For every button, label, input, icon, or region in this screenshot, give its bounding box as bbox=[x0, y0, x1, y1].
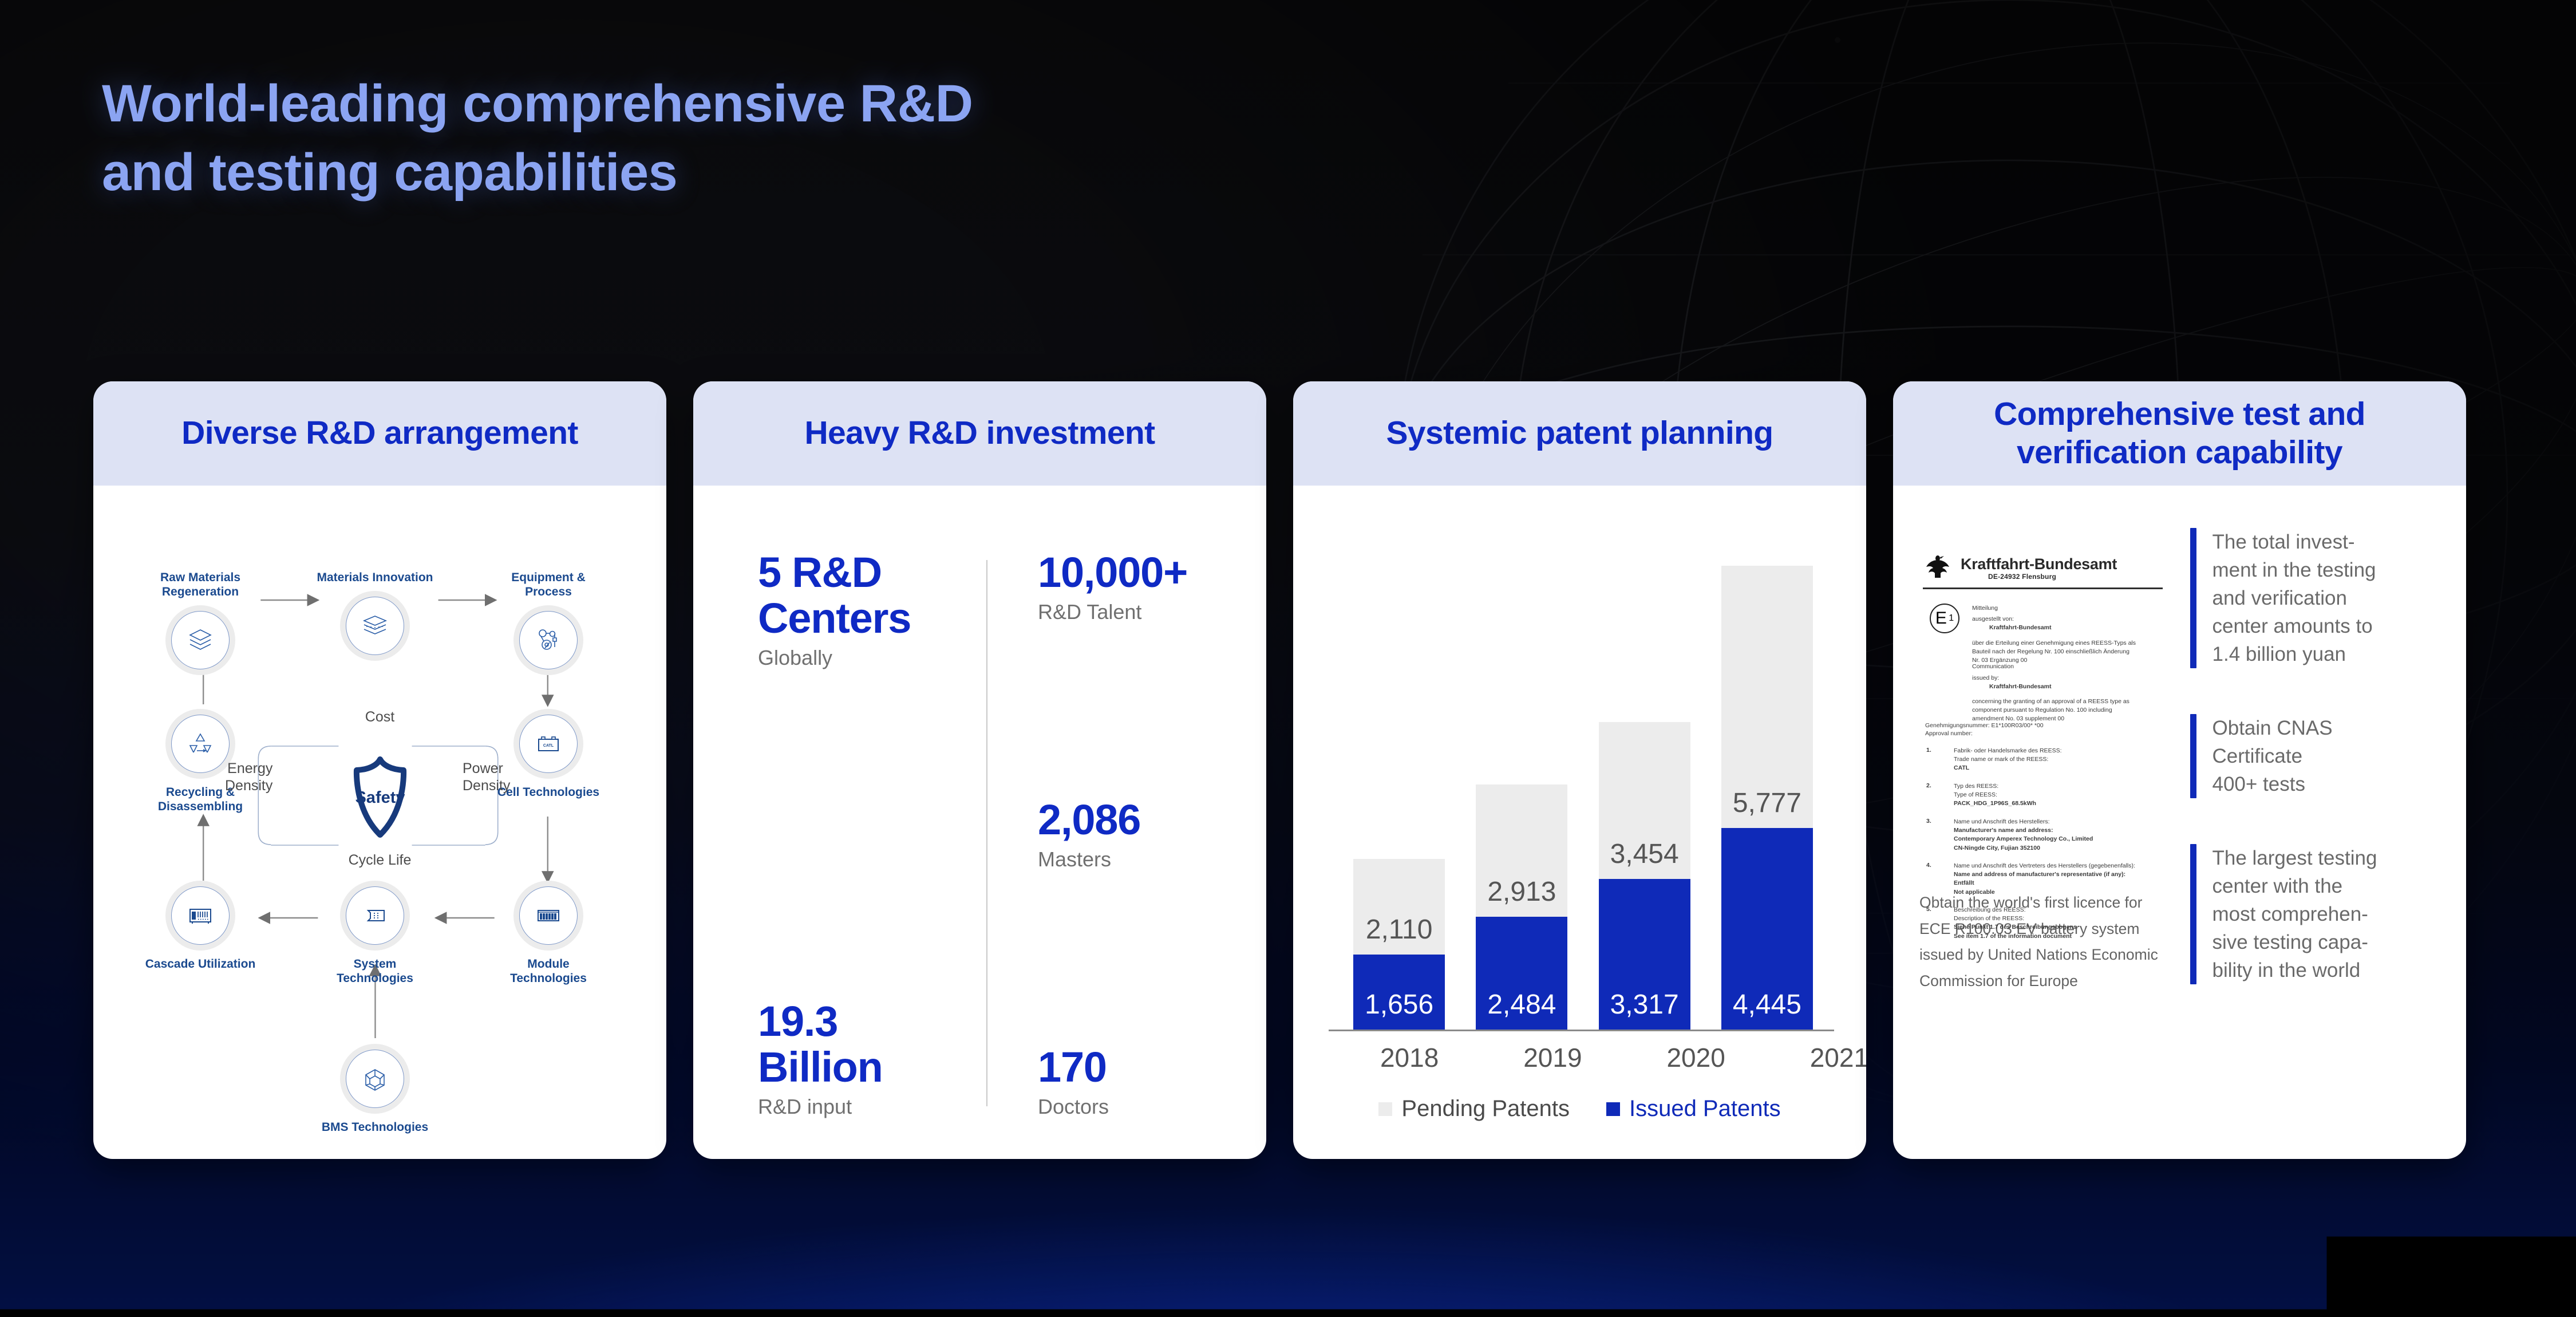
node-icon-bubble bbox=[340, 881, 410, 951]
chart-plot-area: 2,1101,6562,9132,4843,4543,3175,7774,445 bbox=[1338, 566, 1828, 1030]
bullet-total-investment: The total invest- ment in the testing an… bbox=[2190, 528, 2444, 668]
card-title: Systemic patent planning bbox=[1386, 414, 1773, 452]
cert-block-1: ausgestellt von: bbox=[1972, 615, 2014, 624]
bullet-largest-center: The largest testing center with the most… bbox=[2190, 844, 2444, 984]
node-icon-bubble bbox=[340, 1044, 410, 1114]
german-eagle-icon bbox=[1925, 551, 1950, 581]
bar-value-pending: 3,454 bbox=[1610, 838, 1679, 879]
diagram-node-bms-technologies[interactable]: BMS Technologies bbox=[315, 1044, 435, 1134]
stat-doctors: 170 Doctors bbox=[1038, 1044, 1266, 1119]
stat-rd-input: 19.3 Billion R&D input bbox=[758, 999, 986, 1119]
node-label: Equipment & Process bbox=[488, 570, 609, 599]
cert-item-lines: Beschreibung des REESS:Description of th… bbox=[1954, 906, 2143, 941]
node-icon-bubble bbox=[513, 605, 583, 675]
chart-x-tick-2019: 2019 bbox=[1495, 1042, 1610, 1073]
cert-block-2: Kraftfahrt-Bundesamt bbox=[1989, 624, 2052, 632]
center-label-cost: Cost bbox=[365, 709, 394, 726]
cert-block-5: issued by: bbox=[1972, 674, 1999, 683]
emark-letter: E bbox=[1935, 609, 1946, 628]
node-icon-ring bbox=[171, 715, 230, 773]
legend-label: Issued Patents bbox=[1629, 1096, 1781, 1122]
card-grid: Diverse R&D arrangement bbox=[93, 381, 2466, 1159]
bar-segment-issued: 4,445 bbox=[1721, 828, 1813, 1030]
node-icon-ring bbox=[346, 597, 404, 655]
card-title: Comprehensive test and verification capa… bbox=[1907, 395, 2452, 472]
card-systemic-patent-planning: Systemic patent planning 2,1101,6562,913… bbox=[1293, 381, 1866, 1159]
page-title-line-2: and testing capabilities bbox=[102, 139, 973, 207]
chart-bar-2019[interactable]: 2,9132,484 bbox=[1476, 784, 1567, 1030]
node-label: Cascade Utilization bbox=[140, 957, 260, 971]
stat-value: 170 bbox=[1038, 1044, 1266, 1090]
node-icon-bubble bbox=[165, 605, 235, 675]
bar-segment-pending: 5,777 bbox=[1721, 566, 1813, 828]
bar-value-pending: 5,777 bbox=[1733, 787, 1801, 828]
certificate-authority: Kraftfahrt-Bundesamt bbox=[1961, 555, 2117, 573]
bullet-text: The largest testing center with the most… bbox=[2212, 844, 2377, 984]
chart-x-axis-line bbox=[1329, 1030, 1834, 1031]
card-body: Kraftfahrt-Bundesamt DE-24932 Flensburg … bbox=[1893, 486, 2466, 1159]
node-icon-bubble bbox=[165, 881, 235, 951]
cert-item-number: 4. bbox=[1926, 862, 1931, 869]
diagram-node-module-technologies[interactable]: Module Technologies bbox=[488, 881, 609, 985]
stat-value: 5 R&D Centers bbox=[758, 550, 986, 641]
bar-segment-pending: 2,110 bbox=[1353, 859, 1445, 955]
stat-label: Doctors bbox=[1038, 1095, 1266, 1119]
stacked-sheets-icon bbox=[185, 625, 215, 655]
center-label-energy-density: Energy Density bbox=[225, 760, 272, 794]
cert-approval-de: Genehmigungsnummer: E1*100R03/00* *00 bbox=[1925, 721, 2044, 730]
cert-item-number: 5. bbox=[1926, 906, 1931, 913]
catl-battery-icon: CATL bbox=[534, 729, 563, 759]
cert-item-lines: Typ des REESS:Type of REESS:PACK_HDG_1P9… bbox=[1954, 782, 2143, 809]
stat-label: Globally bbox=[758, 646, 986, 670]
node-icon-ring bbox=[346, 886, 404, 945]
node-icon-bubble: CATL bbox=[513, 709, 583, 779]
chart-legend: Pending Patents Issued Patents bbox=[1293, 1096, 1866, 1122]
bar-value-pending: 2,110 bbox=[1366, 914, 1433, 955]
cert-block-7: concerning the granting of an approval o… bbox=[1972, 697, 2138, 724]
bullet-accent-rule bbox=[2190, 844, 2196, 984]
bar-segment-issued: 3,317 bbox=[1599, 879, 1690, 1030]
bar-segment-issued: 1,656 bbox=[1353, 955, 1445, 1030]
cert-item-lines: Fabrik- oder Handelsmarke des REESS:Trad… bbox=[1954, 747, 2143, 773]
stat-value: 19.3 Billion bbox=[758, 999, 986, 1090]
kba-certificate-scan: Kraftfahrt-Bundesamt DE-24932 Flensburg … bbox=[1919, 547, 2166, 868]
node-label: Raw Materials Regeneration bbox=[140, 570, 260, 599]
stat-rd-centers: 5 R&D Centers Globally bbox=[758, 550, 986, 670]
e1-approval-mark-icon: E 1 bbox=[1930, 604, 1959, 633]
node-icon-bubble bbox=[340, 591, 410, 661]
rack-cabinet-icon bbox=[185, 901, 215, 930]
certificate-and-bullets: Kraftfahrt-Bundesamt DE-24932 Flensburg … bbox=[1893, 486, 2466, 1159]
card-header: Heavy R&D investment bbox=[693, 381, 1266, 486]
card-body: 5 R&D Centers Globally 19.3 Billion R&D … bbox=[693, 486, 1266, 1159]
node-icon-ring bbox=[171, 886, 230, 945]
chart-bar-2018[interactable]: 2,1101,656 bbox=[1353, 859, 1445, 1030]
certificate-panel: Kraftfahrt-Bundesamt DE-24932 Flensburg … bbox=[1893, 486, 2180, 1159]
legend-swatch-issued bbox=[1606, 1102, 1620, 1116]
cert-item-number: 2. bbox=[1926, 782, 1931, 789]
card-comprehensive-test-verification: Comprehensive test and verification capa… bbox=[1893, 381, 2466, 1159]
node-label: BMS Technologies bbox=[315, 1120, 435, 1134]
bar-segment-issued: 2,484 bbox=[1476, 917, 1567, 1030]
layered-material-icon bbox=[360, 611, 390, 641]
card-body: 2,1101,6562,9132,4843,4543,3175,7774,445… bbox=[1293, 486, 1866, 1159]
card-header: Diverse R&D arrangement bbox=[93, 381, 666, 486]
bullet-accent-rule bbox=[2190, 714, 2196, 798]
cert-block-3: über die Erteilung einer Genehmigung ein… bbox=[1972, 639, 2138, 665]
patent-stacked-bar-chart: 2,1101,6562,9132,4843,4543,3175,7774,445… bbox=[1293, 486, 1866, 1159]
diagram-node-raw-materials-regeneration[interactable]: Raw Materials Regeneration bbox=[140, 570, 260, 675]
certificate-authority-sub: DE-24932 Flensburg bbox=[1988, 573, 2056, 581]
safety-shield: Safety bbox=[339, 755, 421, 842]
chart-x-tick-2018: 2018 bbox=[1352, 1042, 1467, 1073]
card-header: Comprehensive test and verification capa… bbox=[1893, 381, 2466, 486]
cert-item-number: 3. bbox=[1926, 818, 1931, 825]
bar-value-issued: 4,445 bbox=[1733, 989, 1801, 1030]
node-icon-ring bbox=[519, 611, 578, 669]
battery-module-icon bbox=[534, 901, 563, 930]
bullet-accent-rule bbox=[2190, 528, 2196, 668]
card-title: Heavy R&D investment bbox=[804, 414, 1155, 452]
recycle-icon bbox=[185, 729, 215, 759]
cert-block-4: Communication bbox=[1972, 663, 2014, 671]
node-label: System Technologies bbox=[315, 957, 435, 985]
bullet-text: Obtain CNAS Certificate 400+ tests bbox=[2212, 714, 2333, 798]
stat-value: 10,000+ bbox=[1038, 550, 1266, 596]
bar-segment-pending: 2,913 bbox=[1476, 784, 1567, 917]
stat-label: R&D input bbox=[758, 1095, 986, 1119]
stats-column-right: 10,000+ R&D Talent 2,086 Masters 170 Doc… bbox=[987, 550, 1266, 1119]
cube-network-icon bbox=[360, 1064, 390, 1094]
cert-block-0: Mitteilung bbox=[1972, 604, 1998, 613]
stat-label: Masters bbox=[1038, 847, 1266, 872]
robot-arm-icon bbox=[534, 625, 563, 655]
page-title-line-1: World-leading comprehensive R&D bbox=[102, 74, 973, 133]
svg-text:CATL: CATL bbox=[543, 744, 554, 748]
stat-masters: 2,086 Masters bbox=[1038, 797, 1266, 872]
testing-bullet-list: The total invest- ment in the testing an… bbox=[2180, 486, 2467, 1159]
shield-icon: Safety bbox=[339, 755, 421, 839]
node-label: Module Technologies bbox=[488, 957, 609, 985]
emark-number: 1 bbox=[1949, 613, 1954, 624]
card-header: Systemic patent planning bbox=[1293, 381, 1866, 486]
stat-label: R&D Talent bbox=[1038, 600, 1266, 624]
battery-system-icon bbox=[360, 901, 390, 930]
bar-value-issued: 1,656 bbox=[1365, 989, 1433, 1030]
node-icon-ring: CATL bbox=[519, 715, 578, 773]
legend-item-pending-patents[interactable]: Pending Patents bbox=[1378, 1096, 1570, 1122]
legend-item-issued-patents[interactable]: Issued Patents bbox=[1606, 1096, 1781, 1122]
node-icon-ring bbox=[519, 886, 578, 945]
cert-item-lines: Name und Anschrift des Herstellers:Manuf… bbox=[1954, 818, 2143, 853]
card-title: Diverse R&D arrangement bbox=[181, 414, 578, 452]
node-icon-bubble bbox=[513, 881, 583, 951]
node-icon-ring bbox=[171, 611, 230, 669]
chart-bar-2020[interactable]: 3,4543,317 bbox=[1599, 722, 1690, 1030]
card-body: Raw Materials Regeneration Materials Inn… bbox=[93, 486, 666, 1159]
stats-grid: 5 R&D Centers Globally 19.3 Billion R&D … bbox=[693, 486, 1266, 1159]
diagram-node-system-technologies[interactable]: System Technologies bbox=[315, 881, 435, 985]
cert-item-lines: Name und Anschrift des Vertreters des He… bbox=[1954, 862, 2143, 897]
stat-rd-talent: 10,000+ R&D Talent bbox=[1038, 550, 1266, 624]
bullet-text: The total invest- ment in the testing an… bbox=[2212, 528, 2376, 668]
chart-bar-2021[interactable]: 5,7774,445 bbox=[1721, 566, 1813, 1030]
certificate-divider bbox=[1923, 587, 2163, 589]
bullet-cnas-certificate: Obtain CNAS Certificate 400+ tests bbox=[2190, 714, 2444, 798]
bar-value-pending: 2,913 bbox=[1487, 876, 1556, 917]
chart-x-tick-2020: 2020 bbox=[1639, 1042, 1753, 1073]
diagram-node-cascade-utilization[interactable]: Cascade Utilization bbox=[140, 881, 260, 971]
node-icon-ring bbox=[346, 1050, 404, 1108]
node-label: Materials Innovation bbox=[315, 570, 435, 585]
diagram-node-materials-innovation[interactable]: Materials Innovation bbox=[315, 570, 435, 661]
page-title: World-leading comprehensive R&D and test… bbox=[102, 70, 973, 207]
legend-label: Pending Patents bbox=[1401, 1096, 1570, 1122]
stat-value: 2,086 bbox=[1038, 797, 1266, 843]
rd-cycle-diagram: Raw Materials Regeneration Materials Inn… bbox=[93, 486, 666, 1159]
center-label-power-density: Power Density bbox=[463, 760, 510, 794]
cert-approval-en: Approval number: bbox=[1925, 730, 1973, 738]
stats-column-left: 5 R&D Centers Globally 19.3 Billion R&D … bbox=[693, 550, 986, 1119]
bar-segment-pending: 3,454 bbox=[1599, 722, 1690, 879]
center-label-cycle-life: Cycle Life bbox=[349, 852, 412, 869]
card-heavy-rd-investment: Heavy R&D investment 5 R&D Centers Globa… bbox=[693, 381, 1266, 1159]
bar-value-issued: 2,484 bbox=[1487, 989, 1556, 1030]
chart-x-tick-2021: 2021 bbox=[1782, 1042, 1866, 1073]
cert-item-number: 1. bbox=[1926, 747, 1931, 754]
shield-label: Safety bbox=[355, 788, 405, 807]
diagram-node-equipment-process[interactable]: Equipment & Process bbox=[488, 570, 609, 675]
bar-value-issued: 3,317 bbox=[1610, 989, 1679, 1030]
card-diverse-rd-arrangement: Diverse R&D arrangement bbox=[93, 381, 666, 1159]
legend-swatch-pending bbox=[1378, 1102, 1392, 1116]
cert-block-6: Kraftfahrt-Bundesamt bbox=[1989, 683, 2052, 691]
